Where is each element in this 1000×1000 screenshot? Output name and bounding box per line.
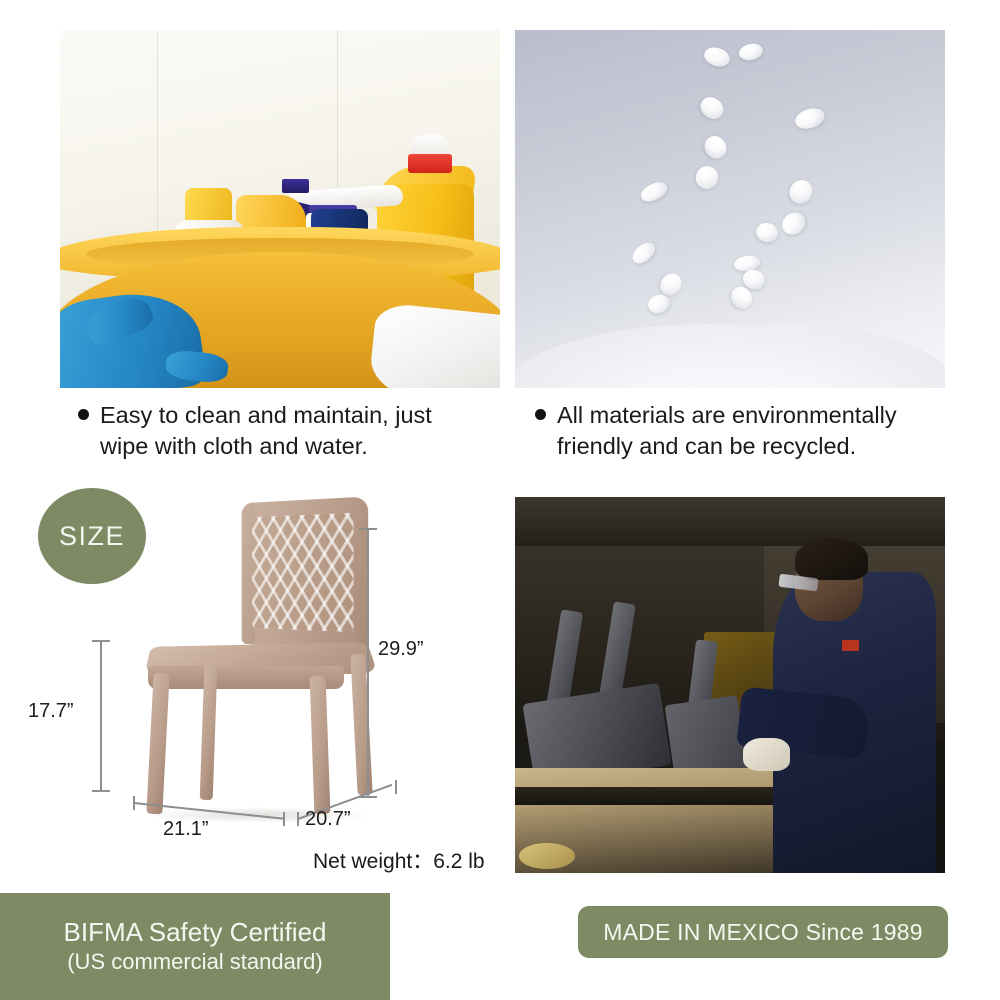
- white-towel: [368, 302, 500, 388]
- chair-product-illustration: [138, 500, 383, 820]
- depth-tick-right: [395, 780, 397, 794]
- total-height-label: 29.9”: [378, 638, 424, 661]
- uniform-logo: [842, 640, 859, 651]
- size-badge: SIZE: [38, 488, 146, 584]
- depth-tick-left: [297, 812, 299, 826]
- pellet: [692, 162, 721, 192]
- cleaning-supplies-photo: [60, 30, 500, 388]
- amber-bottle-top: [236, 195, 306, 231]
- seat-height-tick-bottom: [92, 790, 110, 792]
- caption-line-2: wipe with cloth and water.: [100, 431, 508, 462]
- chair-leg-front-left: [147, 672, 170, 813]
- chair-leg-back-right: [350, 653, 372, 794]
- seat-height-label: 17.7”: [28, 700, 74, 723]
- caption-line-1: All materials are environmentally: [557, 402, 897, 428]
- size-badge-label: SIZE: [59, 521, 125, 552]
- pellet: [754, 221, 780, 245]
- worker-hair: [795, 538, 868, 579]
- pellet-pile: [515, 324, 945, 388]
- origin-label: MADE IN MEXICO Since 1989: [603, 919, 922, 946]
- pellet: [778, 208, 810, 239]
- total-height-tick-top: [359, 528, 377, 530]
- caption-easy-clean: Easy to clean and maintain, just wipe wi…: [78, 400, 508, 462]
- pellet: [638, 179, 670, 205]
- factory-ceiling: [515, 497, 945, 546]
- total-height-dimension-line: [367, 528, 369, 798]
- spray-button: [282, 179, 308, 193]
- pellet: [737, 42, 764, 63]
- bullet-point-icon: [78, 409, 89, 420]
- pellet: [792, 105, 827, 133]
- bifma-certification-banner: BIFMA Safety Certified (US commercial st…: [0, 893, 390, 1000]
- plastic-pellets-photo: [515, 30, 945, 388]
- factory-production-photo: [515, 497, 945, 873]
- bifma-subtitle: (US commercial standard): [30, 948, 360, 976]
- backrest-lattice-pattern: [252, 512, 356, 631]
- depth-label: 20.7”: [305, 808, 351, 831]
- net-weight-label: Net weight：6.2 lb: [313, 845, 485, 875]
- pellet: [786, 176, 817, 208]
- red-cap: [408, 154, 452, 174]
- bifma-title: BIFMA Safety Certified: [30, 918, 360, 948]
- pellet: [701, 132, 731, 163]
- seat-height-tick-top: [92, 640, 110, 642]
- product-infographic: Easy to clean and maintain, just wipe wi…: [0, 0, 1000, 1000]
- caption-line-2: friendly and can be recycled.: [557, 431, 965, 462]
- pellet: [629, 238, 659, 267]
- pellet: [702, 44, 732, 69]
- width-label: 21.1”: [163, 818, 209, 841]
- bifma-text-group: BIFMA Safety Certified (US commercial st…: [30, 918, 360, 975]
- chair-backrest: [242, 496, 369, 650]
- pellet: [696, 93, 727, 123]
- caption-eco-friendly: All materials are environmentally friend…: [535, 400, 965, 462]
- origin-banner: MADE IN MEXICO Since 1989: [578, 906, 948, 958]
- width-tick-left: [133, 796, 135, 810]
- seat-height-dimension-line: [100, 640, 102, 792]
- width-tick-right: [283, 812, 285, 826]
- caption-line-1: Easy to clean and maintain, just: [100, 402, 432, 428]
- bullet-point-icon: [535, 409, 546, 420]
- chair-leg-front-right: [310, 676, 331, 814]
- worker-glove: [743, 738, 790, 772]
